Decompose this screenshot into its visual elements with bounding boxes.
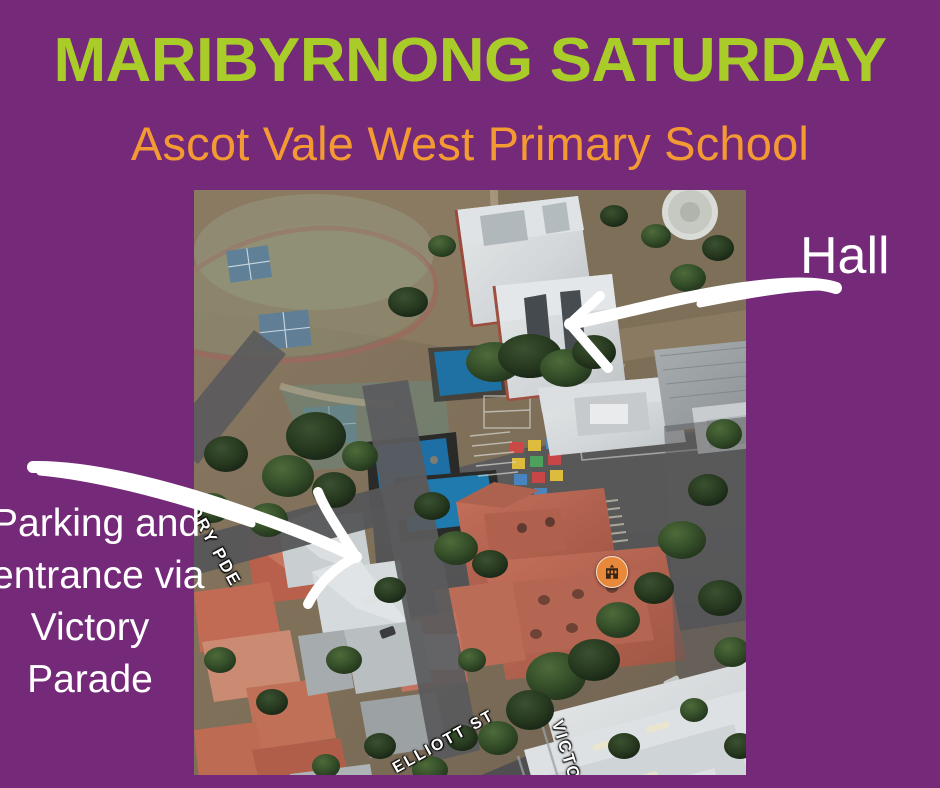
page-subtitle: Ascot Vale West Primary School bbox=[0, 118, 940, 170]
school-building-icon bbox=[603, 563, 621, 581]
parking-label-line-2: entrance via bbox=[0, 550, 188, 602]
parking-label-line-4: Parade bbox=[0, 654, 188, 706]
school-marker[interactable] bbox=[596, 556, 628, 588]
poster-canvas: MARIBYRNONG SATURDAY Ascot Vale West Pri… bbox=[0, 0, 940, 788]
satellite-map[interactable]: CTORY PDE ELLIOTT ST VICTORY PDE LANGS R… bbox=[194, 190, 746, 775]
parking-label-line-1: Parking and bbox=[0, 498, 188, 550]
map-imagery bbox=[194, 190, 746, 775]
parking-label-line-3: Victory bbox=[0, 602, 188, 654]
map-render bbox=[194, 190, 746, 775]
parking-label: Parking and entrance via Victory Parade bbox=[0, 498, 188, 706]
page-title: MARIBYRNONG SATURDAY bbox=[0, 28, 940, 94]
hall-label: Hall bbox=[800, 228, 890, 284]
